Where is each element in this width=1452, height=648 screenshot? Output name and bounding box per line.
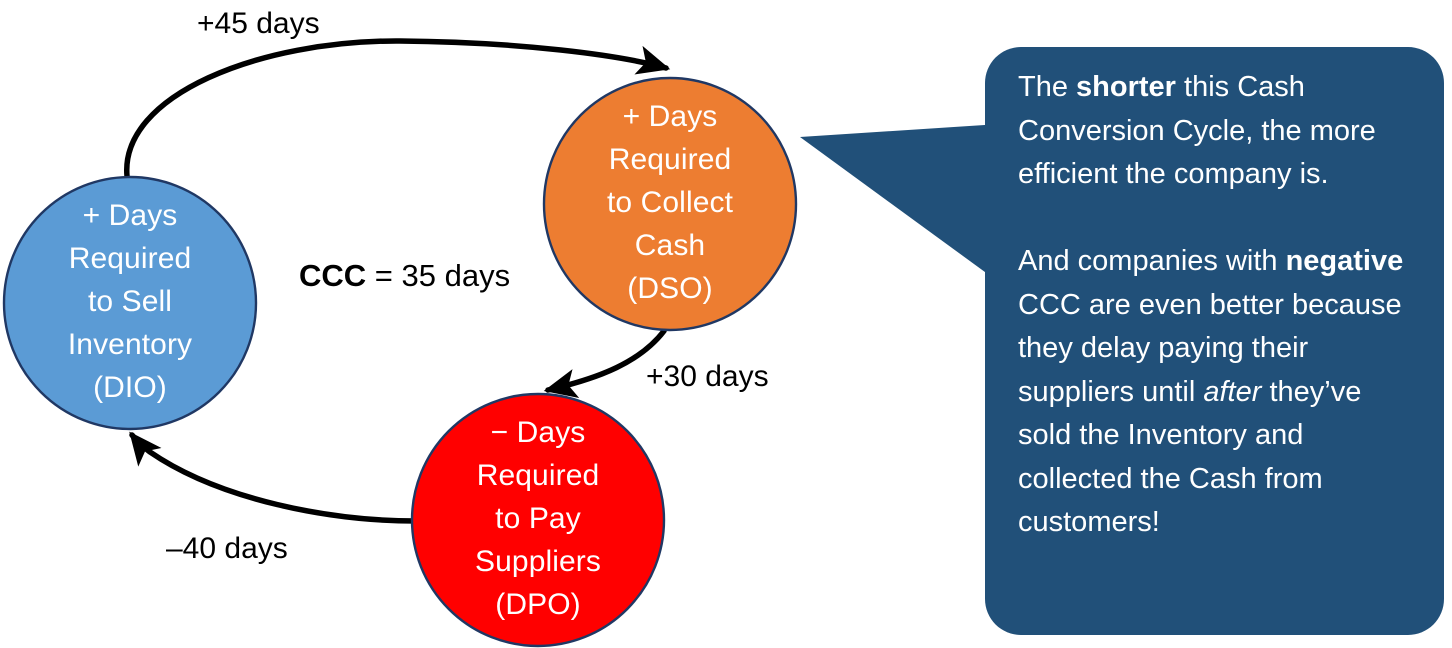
callout-paragraph-2: And companies with negative CCC are even…: [1018, 240, 1410, 545]
ccc-total-label-value: = 35 days: [366, 258, 510, 293]
ccc-total-label-bold: CCC: [299, 258, 366, 293]
node-circle-dio[interactable]: [4, 177, 256, 429]
edge-label-dpo-to-dio: –40 days: [166, 531, 288, 567]
callout-pointer: [800, 124, 1000, 283]
edge-dpo-to-dio: [132, 435, 416, 521]
callout-paragraph-1: The shorter this Cash Conversion Cycle, …: [1018, 66, 1410, 197]
callout-p2-italic: after: [1203, 376, 1261, 408]
node-circle-dpo[interactable]: [412, 394, 664, 646]
callout-paragraph-spacer: [1018, 197, 1410, 241]
callout-p2-bold: negative: [1286, 245, 1404, 277]
callout-p1-pre: The: [1018, 71, 1076, 103]
node-circle-dso[interactable]: [544, 78, 796, 330]
callout-p1-bold: shorter: [1076, 71, 1176, 103]
callout-text-block: The shorter this Cash Conversion Cycle, …: [1018, 66, 1410, 545]
ccc-total-label: CCC = 35 days: [299, 258, 510, 294]
edge-label-dso-to-dpo: +30 days: [646, 359, 769, 395]
edge-label-dio-to-dso: +45 days: [197, 6, 320, 42]
cash-conversion-cycle-diagram: + Days Required to Sell Inventory (DIO) …: [0, 0, 1452, 648]
callout-p2-pre: And companies with: [1018, 245, 1286, 277]
